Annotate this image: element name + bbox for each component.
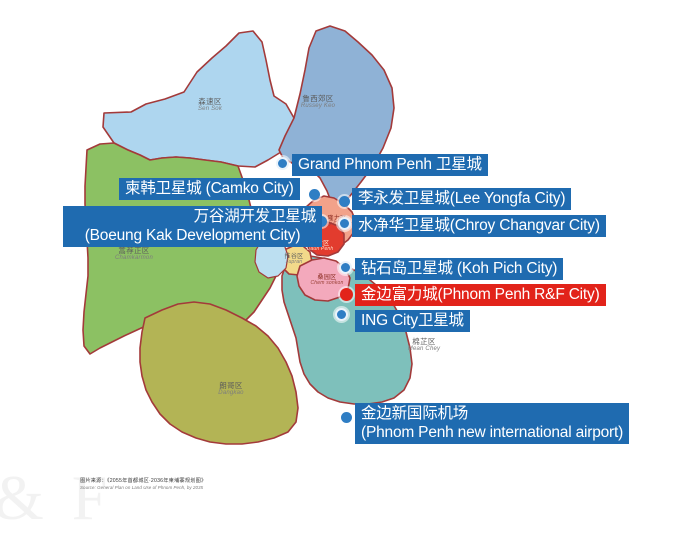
label-boeung-kak[interactable]: 万谷湖开发卫星城 (Boeung Kak Development City)	[63, 206, 322, 247]
marker-lee-yongfa[interactable]	[339, 196, 350, 207]
district-dangkao	[140, 302, 298, 444]
source-note-en: Source: General Plan on Land Use of Phno…	[80, 485, 206, 491]
marker-camko-city[interactable]	[309, 189, 320, 200]
label-koh-pich[interactable]: 钻石岛卫星城 (Koh Pich City)	[355, 258, 563, 280]
source-note-cn: 图片来源：《2055年首都城区·2036年柬埔寨规划图》	[80, 478, 206, 485]
marker-pp-new-airport[interactable]	[341, 412, 352, 423]
marker-phnom-penh-rf[interactable]	[340, 288, 353, 301]
label-grand-phnom-penh[interactable]: Grand Phnom Penh 卫星城	[292, 154, 488, 176]
label-pp-new-airport[interactable]: 金边新国际机场 (Phnom Penh new international ai…	[355, 403, 629, 444]
label-boeung-kak-line1: 万谷湖开发卫星城	[69, 207, 316, 226]
label-chroy-changvar[interactable]: 水净华卫星城(Chroy Changvar City)	[352, 215, 606, 237]
label-ing-city[interactable]: ING City卫星城	[355, 310, 470, 332]
source-note: 图片来源：《2055年首都城区·2036年柬埔寨规划图》 Source: Gen…	[80, 478, 206, 490]
map-canvas: & F 森速区 Sen So	[0, 0, 694, 524]
label-camko-city[interactable]: 柬韩卫星城 (Camko City)	[119, 178, 300, 200]
marker-grand-phnom-penh[interactable]	[276, 157, 289, 170]
label-airport-line1: 金边新国际机场	[361, 404, 623, 423]
district-sen-sok	[103, 31, 294, 167]
label-airport-line2: (Phnom Penh new international airport)	[361, 423, 623, 442]
label-boeung-kak-line2: (Boeung Kak Development City)	[69, 226, 316, 245]
marker-chroy-changvar[interactable]	[338, 217, 351, 230]
label-lee-yongfa[interactable]: 李永发卫星城(Lee Yongfa City)	[352, 188, 571, 210]
marker-ing-city[interactable]	[335, 308, 348, 321]
label-phnom-penh-rf[interactable]: 金边富力城(Phnom Penh R&F City)	[355, 284, 606, 306]
marker-koh-pich[interactable]	[339, 261, 352, 274]
